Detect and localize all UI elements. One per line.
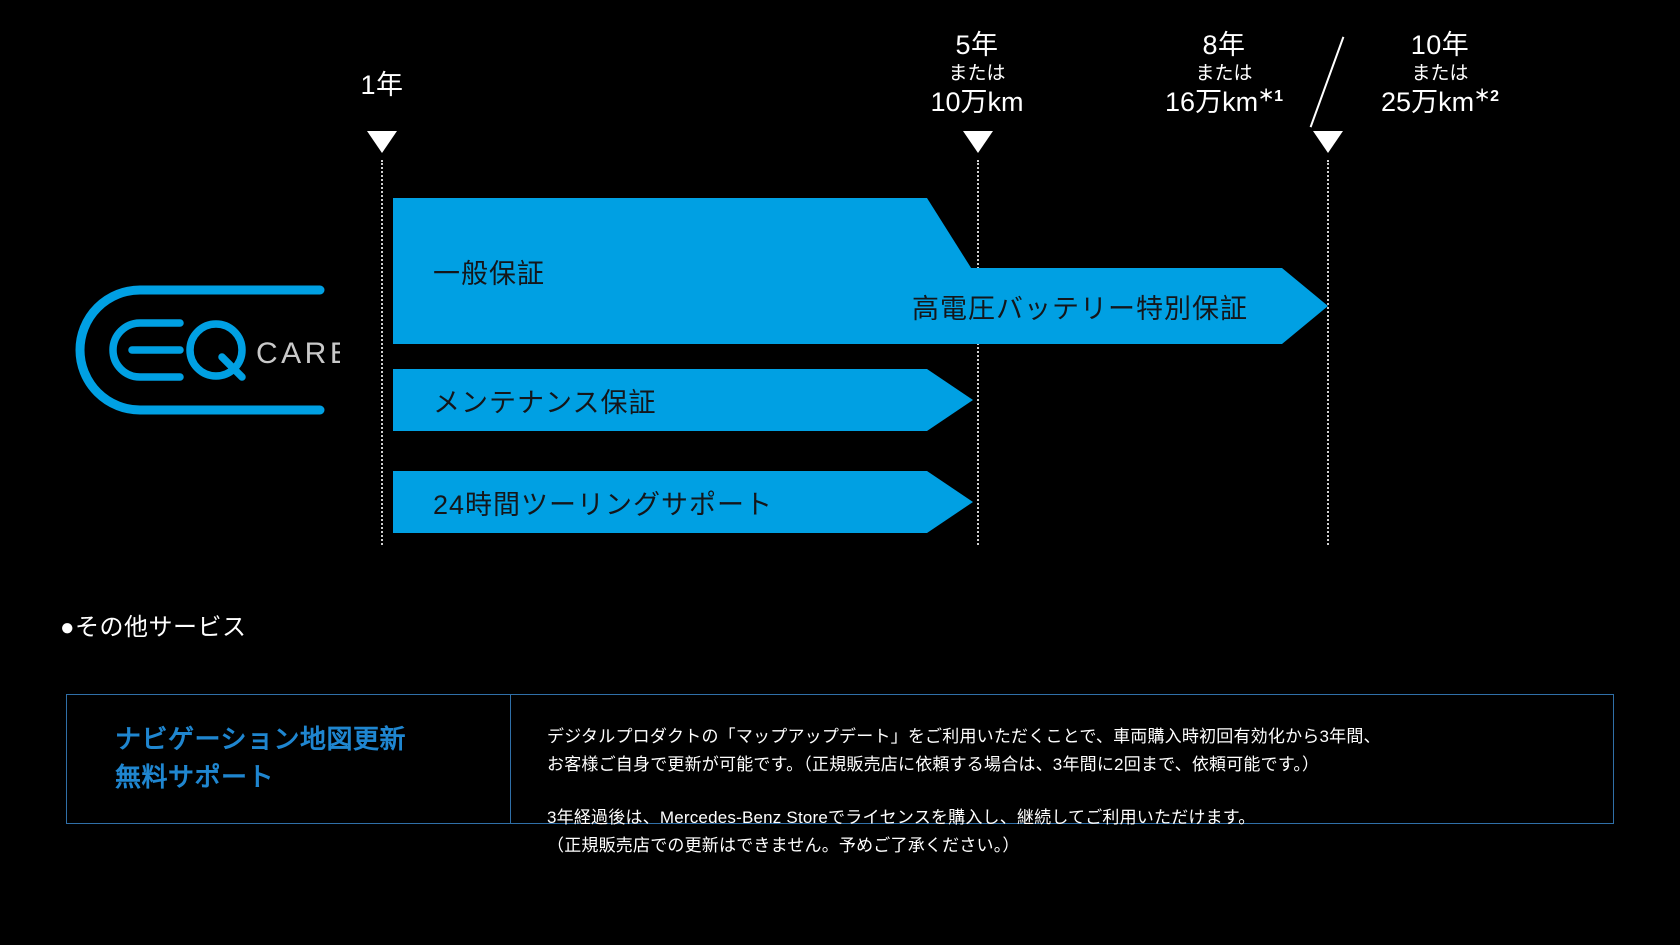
service-row-description-cell: デジタルプロダクトの「マップアップデート」をご利用いただくことで、車両購入時初回… bbox=[511, 695, 1613, 823]
bar-label-hv-battery-warranty: 高電圧バッテリー特別保証 bbox=[912, 287, 1248, 326]
timeline-marker-year-8: 8年 または 16万km＊1 bbox=[1124, 30, 1324, 119]
marker-distance-label: 25万km＊2 bbox=[1330, 87, 1550, 118]
bar-hv-battery-warranty: 高電圧バッテリー特別保証 bbox=[880, 268, 1328, 344]
bar-label-maintenance-warranty: メンテナンス保証 bbox=[433, 381, 656, 420]
bar-label-general-warranty: 一般保証 bbox=[433, 252, 545, 291]
bar-touring-support: 24時間ツーリングサポート bbox=[393, 471, 973, 533]
guide-line-year-1 bbox=[381, 160, 383, 545]
bar-label-touring-support: 24時間ツーリングサポート bbox=[433, 483, 773, 522]
guide-line-year-10 bbox=[1327, 160, 1329, 545]
marker-year-label: 5年 bbox=[877, 30, 1077, 61]
logo-care-text: CARE bbox=[256, 337, 340, 370]
timeline-marker-year-5: 5年 または 10万km bbox=[877, 30, 1077, 119]
marker-year-label: 8年 bbox=[1124, 30, 1324, 61]
other-services-heading: ●その他サービス bbox=[60, 607, 247, 642]
timeline-pointer-year-5 bbox=[963, 131, 993, 153]
marker-distance-label: 10万km bbox=[877, 87, 1077, 118]
marker-or-label: または bbox=[877, 63, 1077, 85]
marker-distance-label: 16万km＊1 bbox=[1124, 87, 1324, 118]
footnote-ref-2: ＊2 bbox=[1474, 88, 1499, 105]
bar-maintenance-warranty: メンテナンス保証 bbox=[393, 369, 973, 431]
service-description-paragraph-2: 3年経過後は、Mercedes-Benz Storeでライセンスを購入し、継続し… bbox=[547, 804, 1593, 859]
timeline-marker-year-10: 10年 または 25万km＊2 bbox=[1330, 30, 1550, 119]
timeline-pointer-year-10 bbox=[1313, 131, 1343, 153]
eq-care-logo-svg: CARE bbox=[70, 275, 340, 425]
footnote-ref-1: ＊1 bbox=[1258, 88, 1283, 105]
other-services-table: ナビゲーション地図更新 無料サポート デジタルプロダクトの「マップアップデート」… bbox=[66, 694, 1614, 824]
guide-line-year-5 bbox=[977, 160, 979, 545]
timeline-marker-year-1: 1年 bbox=[302, 70, 462, 101]
marker-year-label: 10年 bbox=[1330, 30, 1550, 61]
service-row-title-cell: ナビゲーション地図更新 無料サポート bbox=[67, 695, 511, 823]
marker-year-label: 1年 bbox=[302, 70, 462, 101]
service-title-nav-map-update: ナビゲーション地図更新 無料サポート bbox=[115, 721, 406, 796]
diagram-canvas: 1年 5年 または 10万km 8年 または 16万km＊1 10年 または 2… bbox=[0, 0, 1680, 945]
eq-care-logo: CARE bbox=[70, 275, 340, 425]
service-description-paragraph-1: デジタルプロダクトの「マップアップデート」をご利用いただくことで、車両購入時初回… bbox=[547, 723, 1593, 778]
timeline-pointer-year-1 bbox=[367, 131, 397, 153]
marker-or-label: または bbox=[1330, 63, 1550, 85]
marker-or-label: または bbox=[1124, 63, 1324, 85]
